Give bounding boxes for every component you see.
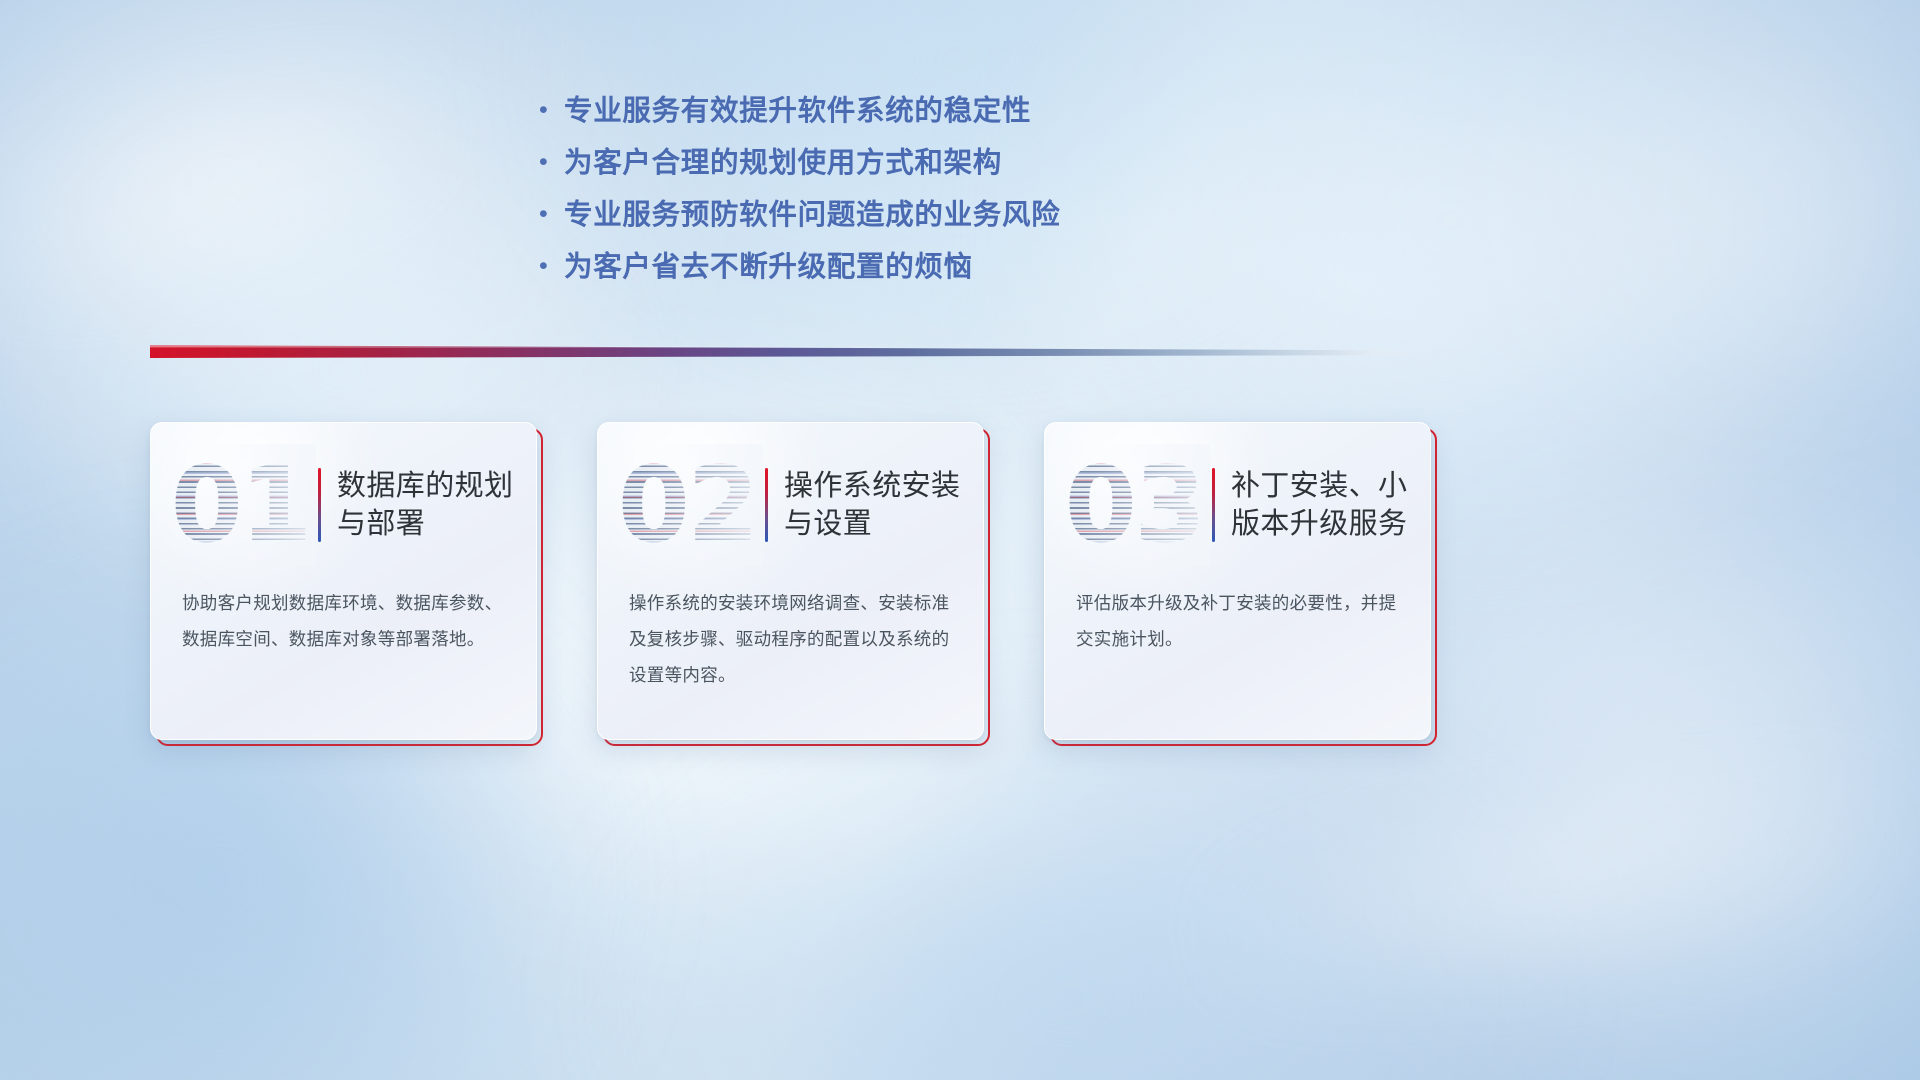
list-item: • 专业服务有效提升软件系统的稳定性 (530, 88, 1430, 140)
service-card-03[interactable]: 03 03 03 补丁安装、小 版本升级服务 评估版本升级及补丁安装的必要性，并… (1044, 422, 1431, 740)
card-number-blue-stripes: 03 (1058, 444, 1210, 566)
service-card-02[interactable]: 02 02 02 操作系统安装 与设置 操作系统的安装环境网络调查、安装标准及复… (597, 422, 984, 740)
card-header: 02 02 02 操作系统安装 与设置 (597, 440, 984, 570)
bullet-dot-icon: • (530, 254, 564, 279)
card-title: 补丁安装、小 版本升级服务 (1231, 467, 1431, 544)
card-number-watermark: 03 03 03 (1058, 444, 1210, 566)
list-item: • 为客户合理的规划使用方式和架构 (530, 140, 1430, 192)
card-header: 01 01 01 数据库的规划 与部署 (150, 440, 537, 570)
bullet-text: 专业服务预防软件问题造成的业务风险 (564, 192, 1060, 233)
card-title: 数据库的规划 与部署 (337, 467, 537, 544)
card-body-text: 评估版本升级及补丁安装的必要性，并提交实施计划。 (1076, 585, 1409, 657)
card-title-line-2: 版本升级服务 (1231, 505, 1421, 543)
service-card-group: 01 01 01 数据库的规划 与部署 协助客户规划数据库环境、数据库参数、数据… (150, 422, 1450, 752)
card-title-divider (1212, 468, 1215, 542)
card-title-divider (318, 468, 321, 542)
bullet-dot-icon: • (530, 150, 564, 175)
card-number-blue-stripes: 01 (164, 444, 316, 566)
bullet-dot-icon: • (530, 98, 564, 123)
card-title-line-1: 数据库的规划 (337, 467, 527, 505)
list-item: • 为客户省去不断升级配置的烦恼 (530, 244, 1430, 296)
section-divider (150, 345, 1425, 358)
card-number-watermark: 01 01 01 (164, 444, 316, 566)
card-title: 操作系统安装 与设置 (784, 467, 984, 544)
service-card-01[interactable]: 01 01 01 数据库的规划 与部署 协助客户规划数据库环境、数据库参数、数据… (150, 422, 537, 740)
card-title-line-2: 与设置 (784, 505, 974, 543)
card-title-line-2: 与部署 (337, 505, 527, 543)
card-title-line-1: 操作系统安装 (784, 467, 974, 505)
bullet-text: 专业服务有效提升软件系统的稳定性 (564, 88, 1031, 129)
card-number-blue-stripes: 02 (611, 444, 763, 566)
list-item: • 专业服务预防软件问题造成的业务风险 (530, 192, 1430, 244)
bullet-text: 为客户省去不断升级配置的烦恼 (564, 244, 973, 285)
card-body-text: 协助客户规划数据库环境、数据库参数、数据库空间、数据库对象等部署落地。 (182, 585, 515, 657)
bullet-dot-icon: • (530, 202, 564, 227)
card-title-divider (765, 468, 768, 542)
card-body-text: 操作系统的安装环境网络调查、安装标准及复核步骤、驱动程序的配置以及系统的设置等内… (629, 585, 962, 693)
card-number-watermark: 02 02 02 (611, 444, 763, 566)
benefits-bullet-list: • 专业服务有效提升软件系统的稳定性 • 为客户合理的规划使用方式和架构 • 专… (530, 88, 1430, 296)
bullet-text: 为客户合理的规划使用方式和架构 (564, 140, 1002, 181)
card-title-line-1: 补丁安装、小 (1231, 467, 1421, 505)
card-header: 03 03 03 补丁安装、小 版本升级服务 (1044, 440, 1431, 570)
